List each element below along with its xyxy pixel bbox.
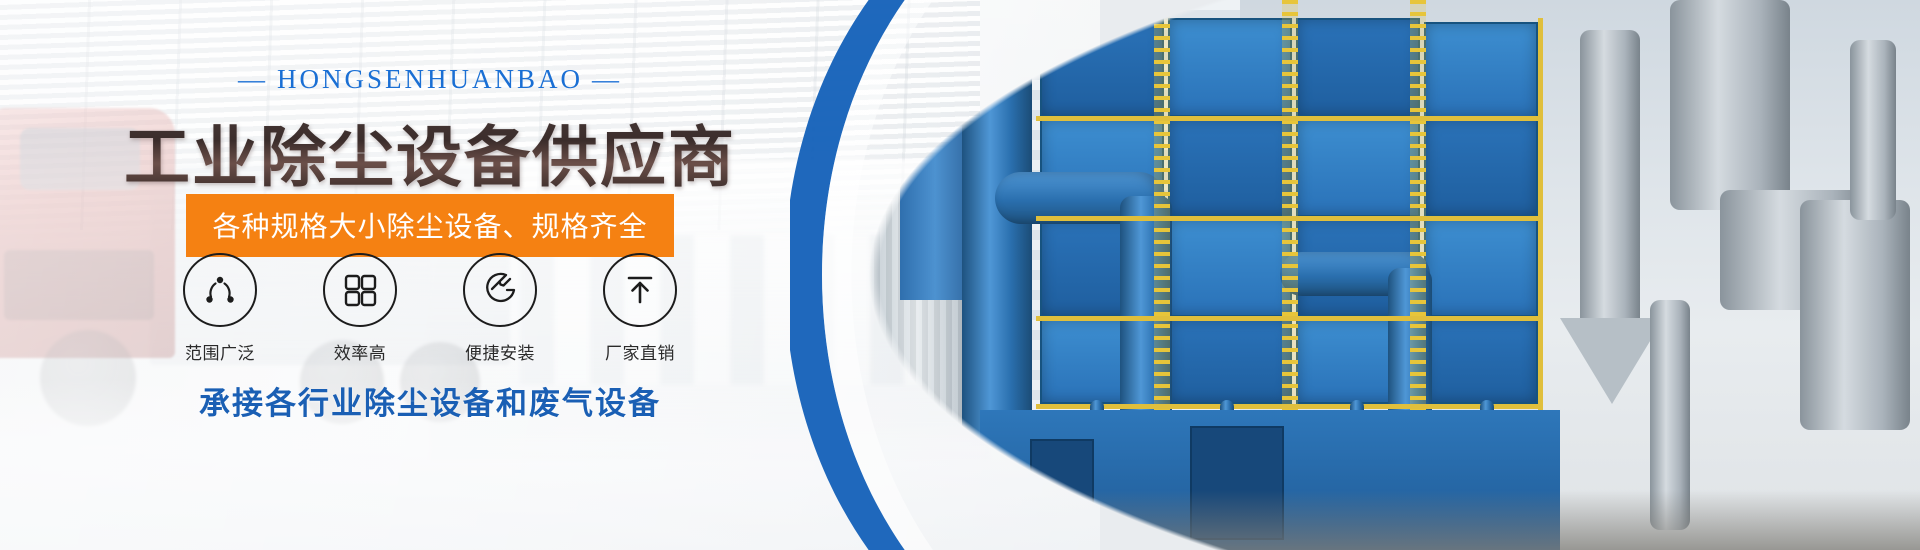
feature-item-factory-direct[interactable]: 厂家直销 bbox=[599, 253, 681, 364]
feature-label: 便捷安装 bbox=[459, 339, 541, 364]
feature-label: 范围广泛 bbox=[179, 339, 261, 364]
baghouse-module bbox=[1296, 18, 1420, 117]
grid-squares-icon bbox=[323, 253, 397, 327]
bottom-tagline: 承接各行业除尘设备和废气设备 bbox=[0, 378, 860, 423]
feature-label: 厂家直销 bbox=[599, 339, 681, 364]
yellow-ladder bbox=[1282, 0, 1298, 430]
baghouse-module bbox=[1168, 118, 1292, 217]
highlight-badge: 各种规格大小除尘设备、规格齐全 bbox=[186, 194, 673, 257]
hopper-cone bbox=[1560, 318, 1664, 404]
eyebrow-text: HONGSENHUANBAO bbox=[277, 64, 583, 94]
baghouse-module bbox=[1040, 18, 1164, 117]
baghouse-module bbox=[1168, 18, 1292, 117]
yellow-railing bbox=[1036, 116, 1538, 121]
hero-banner: —HONGSENHUANBAO— 工业除尘设备供应商 各种规格大小除尘设备、规格… bbox=[0, 0, 1920, 550]
steel-column bbox=[1850, 40, 1896, 220]
baghouse-module bbox=[1296, 118, 1420, 217]
feature-item-easy-install[interactable]: 便捷安装 bbox=[459, 253, 541, 364]
wrench-circle-icon bbox=[463, 253, 537, 327]
baghouse-module bbox=[1424, 118, 1538, 217]
baghouse-module bbox=[1168, 218, 1292, 317]
baghouse-module bbox=[1424, 218, 1538, 317]
steel-vessel bbox=[1580, 30, 1640, 330]
badge-row: 各种规格大小除尘设备、规格齐全 bbox=[0, 194, 860, 257]
feature-list: 范围广泛 效率高 bbox=[0, 253, 860, 364]
banner-content: —HONGSENHUANBAO— 工业除尘设备供应商 各种规格大小除尘设备、规格… bbox=[0, 0, 860, 550]
yellow-railing bbox=[1538, 18, 1543, 418]
baghouse-module bbox=[1424, 22, 1538, 118]
baghouse-module bbox=[1424, 318, 1538, 404]
baghouse-module bbox=[1168, 318, 1292, 404]
yellow-railing bbox=[1036, 404, 1538, 409]
network-nodes-icon bbox=[183, 253, 257, 327]
eyebrow-dash-right: — bbox=[583, 64, 631, 95]
ground-strip bbox=[790, 490, 1920, 550]
yellow-railing bbox=[1036, 316, 1538, 321]
eyebrow-dash-left: — bbox=[229, 64, 277, 95]
english-eyebrow: —HONGSENHUANBAO— bbox=[0, 64, 860, 95]
yellow-ladder bbox=[1410, 0, 1426, 430]
yellow-railing bbox=[1036, 216, 1538, 221]
steel-vessel bbox=[1670, 0, 1790, 210]
feature-label: 效率高 bbox=[319, 339, 401, 364]
dust-collector-photo bbox=[790, 0, 1920, 550]
steel-vessel bbox=[1800, 200, 1910, 430]
feature-item-high-efficiency[interactable]: 效率高 bbox=[319, 253, 401, 364]
page-title: 工业除尘设备供应商 bbox=[0, 104, 860, 200]
feature-item-wide-range[interactable]: 范围广泛 bbox=[179, 253, 261, 364]
yellow-ladder bbox=[1154, 0, 1170, 430]
arrow-up-bar-icon bbox=[603, 253, 677, 327]
